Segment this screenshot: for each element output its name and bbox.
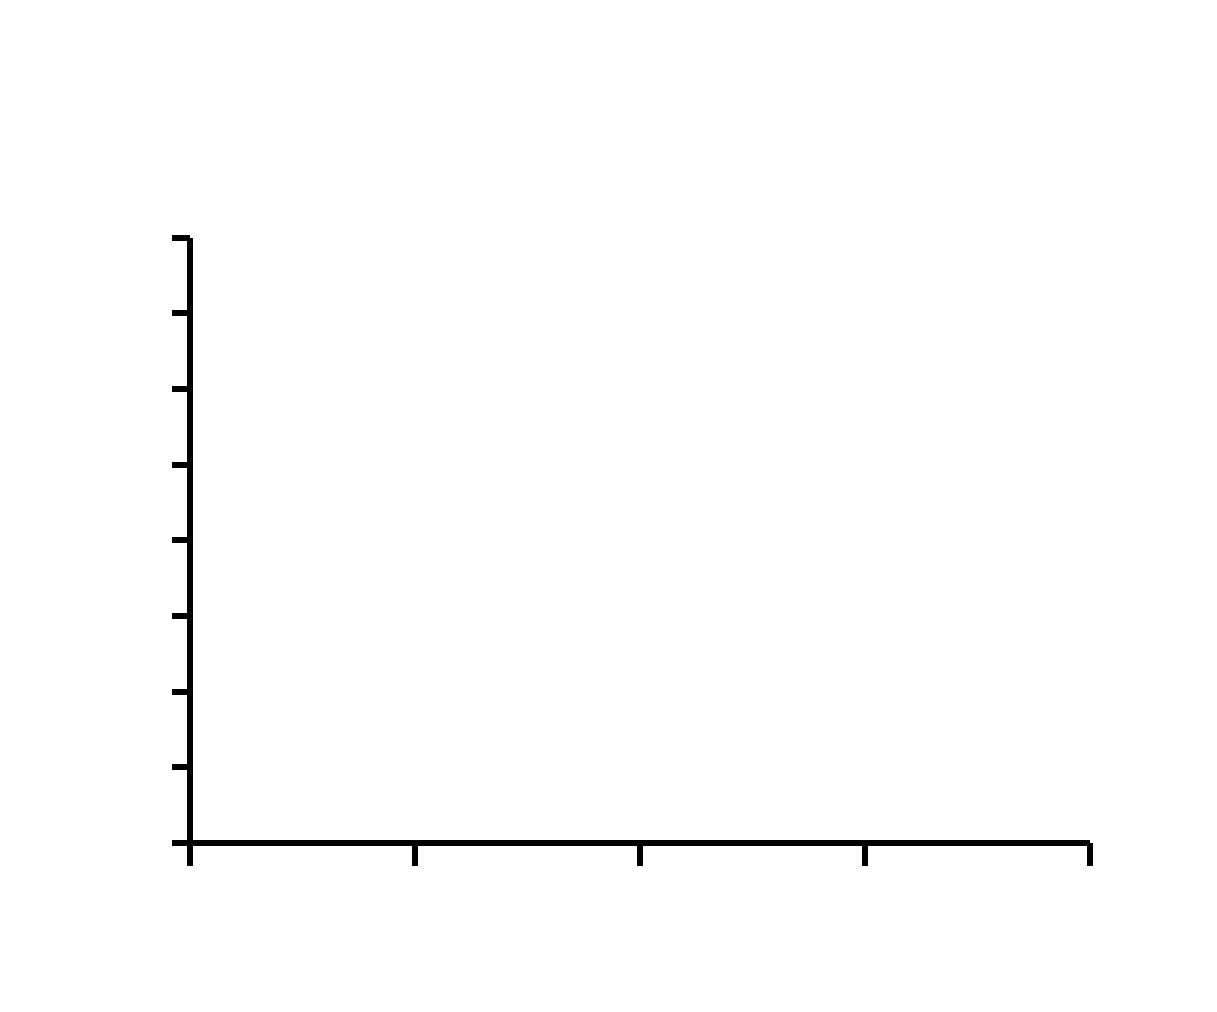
x-axis-ticks [190, 843, 1090, 866]
plot-area [0, 0, 1217, 1012]
chart-figure [0, 0, 1217, 1012]
axis-spines [187, 238, 1090, 843]
